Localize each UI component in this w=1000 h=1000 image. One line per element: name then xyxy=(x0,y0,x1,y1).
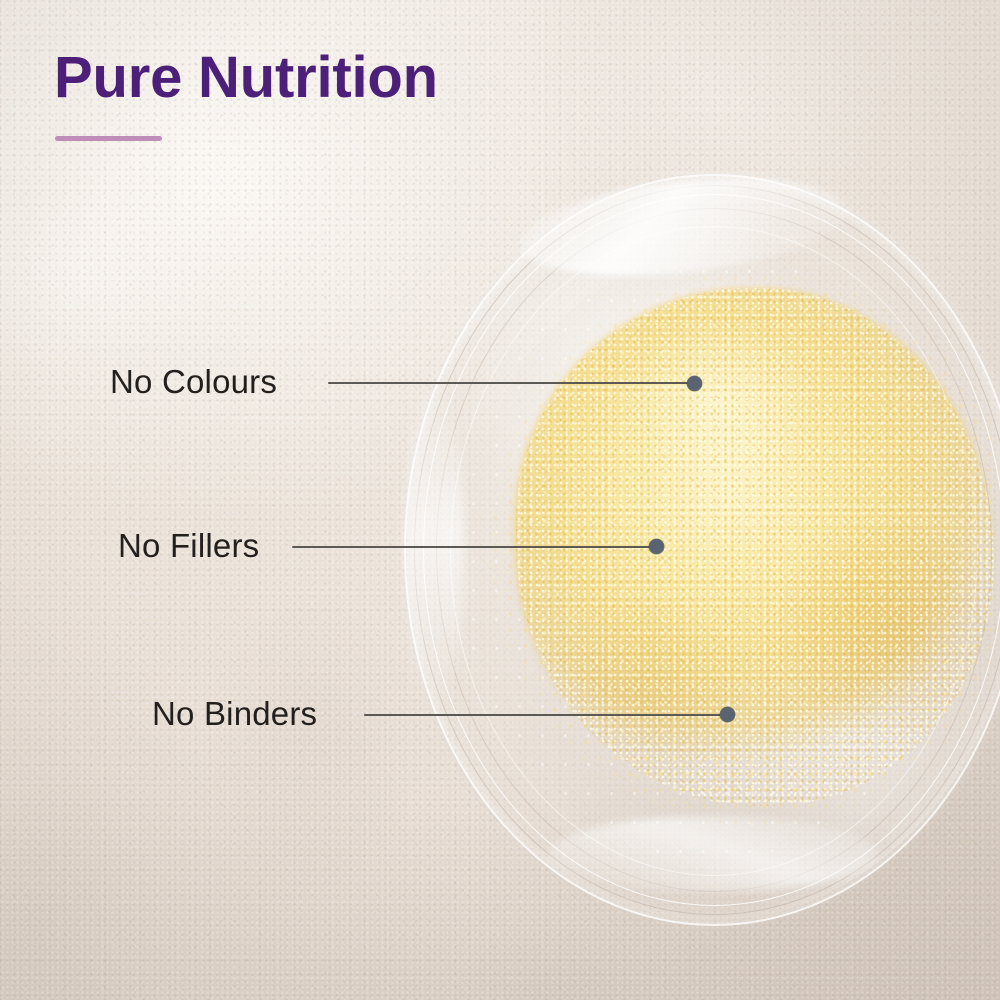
callout-label-no-colours: No Colours xyxy=(110,365,277,398)
product-infographic: Pure Nutrition No Colours No Fillers xyxy=(0,0,1000,1000)
callout-label-no-binders: No Binders xyxy=(152,697,317,730)
leader-line-no-binders xyxy=(364,714,726,716)
leader-dot-no-fillers xyxy=(649,539,664,554)
powder-spill-dust xyxy=(596,742,896,834)
bowl-rim-highlight-left xyxy=(406,378,464,718)
leader-line-no-fillers xyxy=(292,546,655,548)
title-underline-rule xyxy=(55,136,162,141)
leader-dot-no-colours xyxy=(687,376,702,391)
page-title: Pure Nutrition xyxy=(54,48,438,109)
callout-label-no-fillers: No Fillers xyxy=(118,529,259,562)
leader-line-no-colours xyxy=(328,382,694,384)
leader-dot-no-binders xyxy=(720,707,735,722)
